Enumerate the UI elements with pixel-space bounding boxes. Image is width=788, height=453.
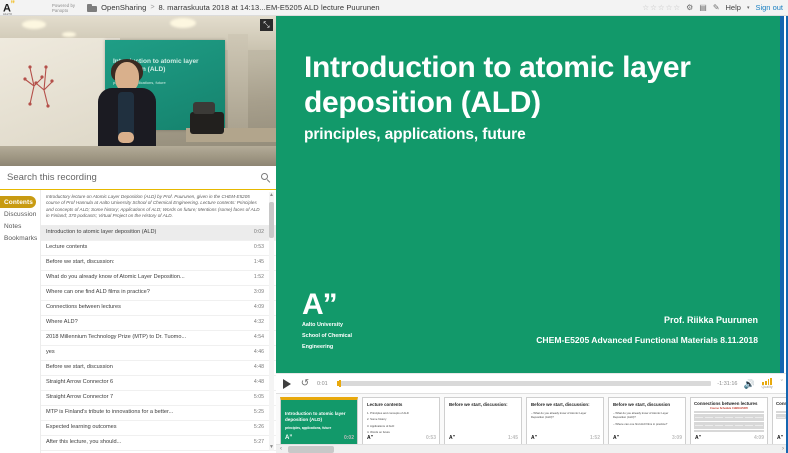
quality-bars-icon [762,378,771,385]
thumbnail-logo: A” [449,436,455,441]
left-panel: Introduction to atomic layer deposition … [0,16,276,453]
logo-mark: A” [302,292,352,318]
list-item-time: 4:48 [254,379,264,386]
list-item-time: 1:52 [254,274,264,281]
bag [190,112,224,134]
star-icon[interactable]: ☆ [673,4,680,12]
main-content: Introduction to atomic layer deposition … [276,16,788,453]
thumbnail-card[interactable]: Connections between lectures Course Sche… [690,397,768,445]
scroll-down-icon[interactable]: ▼ [268,444,275,451]
camera-equipment [193,102,215,114]
bullet: – What do you already know of Atomic Lay… [613,411,681,422]
scroll-up-icon[interactable]: ▲ [268,192,275,199]
slide-course: CHEM-E5205 Advanced Functional Materials… [536,335,758,345]
bullet: 4. Words on future [367,430,435,436]
list-item-title: MTP is Finland's tribute to innovations … [46,409,179,416]
aalto-logo[interactable]: A” AALTO [0,0,48,16]
thumbnail-filmstrip[interactable]: Introduction to atomic layer deposition … [276,393,788,453]
list-item-title: Introduction to atomic layer deposition … [46,229,162,236]
list-item[interactable]: 2018 Millennium Technology Prize (MTP) t… [41,331,276,346]
list-item-time: 4:09 [254,304,264,311]
list-item-title: Before we start, discussion: [46,259,120,266]
thumbnail-title: Before we start, discussion: [531,402,599,408]
thumbnail-card[interactable]: Before we start, discussion: – What do y… [526,397,604,445]
expand-icon[interactable]: ⤡ [260,19,273,31]
bullet: – What do you already know of Atomic Lay… [531,411,599,422]
recording-description: Introductory lecture on Atomic Layer Dep… [41,190,276,226]
list-item[interactable]: Introduction to atomic layer deposition … [41,226,276,241]
thumbnail-logo: A” [777,436,783,441]
contents-panel: Contents Discussion Notes Bookmarks Intr… [0,190,276,453]
filmstrip-prev-icon[interactable]: ‹ [276,446,286,452]
list-item[interactable]: Where can one find ALD films in practice… [41,286,276,301]
panopto-player-page: A” AALTO Powered byPanopto OpenSharing >… [0,0,788,453]
list-item-title: After this lecture, you should... [46,439,127,446]
list-item-time: 0:53 [254,244,264,251]
star-icon[interactable]: ☆ [658,4,665,12]
breadcrumb-separator: > [150,4,154,11]
player-controls: ↺ 0:01 -1:31:16 🔊 Quality ˇ [276,373,788,393]
search-bar [0,166,276,190]
list-item-title: Lecture contents [46,244,93,251]
list-item[interactable]: Expected learning outcomes 5:26 [41,421,276,436]
list-item-title: Before we start, discussion [46,364,119,371]
sign-out-link[interactable]: Sign out [755,3,783,12]
list-item[interactable]: Lecture contents 0:53 [41,241,276,256]
slide-subtitle: principles, applications, future [304,126,526,144]
thumbnail-title: Introduction to atomic layer deposition … [281,400,357,423]
tab-contents[interactable]: Contents [0,196,36,208]
thumbnail-logo: A” [613,436,619,441]
tab-discussion[interactable]: Discussion [0,208,40,220]
list-item-title: Connections between lectures [46,304,127,311]
slide-author: Prof. Riikka Puurunen [664,315,758,325]
list-item-time: 1:45 [254,259,264,266]
list-item[interactable]: Straight Arrow Connector 7 5:05 [41,391,276,406]
scrollbar-thumb[interactable] [269,202,274,238]
wall-pillar [228,34,248,134]
help-link[interactable]: Help [726,3,741,12]
star-icon[interactable]: ☆ [642,4,649,12]
thumbnail-card[interactable]: Before we start, discussion: A” 1:45 [444,397,522,445]
ceiling-light [170,18,196,28]
thumbnail-logo: A” [695,436,701,441]
breadcrumb-folder[interactable]: OpenSharing [101,3,146,12]
list-item[interactable]: yes 4:46 [41,346,276,361]
chevron-down-icon[interactable]: ▾ [747,5,750,11]
thumbnail-table-grid [694,411,764,432]
thumbnail-time: 0:53 [426,435,436,441]
list-item-title: Expected learning outcomes [46,424,123,431]
logo-mark: A” [3,0,14,13]
captions-icon[interactable]: ▤ [699,4,707,12]
bullet: – Where can one find ALD films in practi… [613,422,681,428]
breadcrumb-recording-title: 8. marraskuuta 2018 at 14:13...EM-E5205 … [159,3,380,12]
thumbnail-time: 0:02 [344,435,354,441]
thumbnail-time: 1:52 [590,435,600,441]
thumbnail-card[interactable]: Before we start, discussion – What do yo… [608,397,686,445]
rating-stars[interactable]: ☆ ☆ ☆ ☆ ☆ [642,4,680,12]
quality-label: Quality [761,385,772,389]
list-item-title: 2018 Millennium Technology Prize (MTP) t… [46,334,192,341]
tab-bookmarks[interactable]: Bookmarks [0,232,40,244]
list-item-time: 4:54 [254,334,264,341]
list-item[interactable]: Connections between lectures 4:09 [41,301,276,316]
thumbnail-time: 1:45 [508,435,518,441]
list-item[interactable]: Before we start, discussion 4:48 [41,361,276,376]
thumbnail-time: 3:09 [672,435,682,441]
slide-title: Introduction to atomic layer deposition … [304,50,754,120]
thumbnail-card[interactable]: Lecture contents 1. Principles and conce… [362,397,440,445]
top-navigation-bar: A” AALTO Powered byPanopto OpenSharing >… [0,0,788,16]
list-item-title: What do you already know of Atomic Layer… [46,274,191,281]
list-item-time: 5:27 [254,439,264,446]
star-icon[interactable]: ☆ [650,4,657,12]
search-icon[interactable] [254,166,276,190]
chevron-down-icon[interactable]: ˇ [779,380,783,387]
list-item-time: 4:48 [254,364,264,371]
list-item-title: Where ALD? [46,319,84,326]
list-item[interactable]: MTP is Finland's tribute to innovations … [41,406,276,421]
list-item-time: 5:05 [254,394,264,401]
search-input[interactable] [0,172,254,183]
thumbnail-title: Before we start, discussion: [449,402,517,408]
org-line-2: School of Chemical [302,329,352,340]
slide-right-edge [780,16,784,373]
list-item-time: 3:09 [254,289,264,296]
filmstrip-scroll-track[interactable] [286,446,778,453]
top-bar-actions: ☆ ☆ ☆ ☆ ☆ ⚙ ▤ ✎ Help ▾ Sign out [642,3,788,12]
play-button[interactable] [281,378,293,390]
remaining-time: -1:31:16 [717,381,737,387]
breadcrumb: OpenSharing > 8. marraskuuta 2018 at 14:… [87,3,380,12]
thumbnail-bullets: 1. Principles and concepts of ALD 2. Som… [367,408,435,437]
list-item[interactable]: After this lecture, you should... 5:27 [41,436,276,451]
thumbnail-card[interactable]: Introduction to atomic layer deposition … [280,397,358,445]
panel-tabs: Contents Discussion Notes Bookmarks [0,190,40,453]
list-item[interactable]: Where ALD? 4:32 [41,316,276,331]
thumbnail-bullets: – What do you already know of Atomic Lay… [531,408,599,422]
quality-button[interactable]: Quality [761,378,772,389]
ceiling-light [22,20,46,29]
contents-list[interactable]: Introductory lecture on Atomic Layer Dep… [40,190,276,453]
list-item-time: 5:25 [254,409,264,416]
list-item-title: Straight Arrow Connector 6 [46,379,119,386]
seek-handle[interactable] [339,380,341,387]
rewind-10-icon[interactable]: ↺ [299,378,311,390]
tab-notes[interactable]: Notes [0,220,40,232]
gear-icon[interactable]: ⚙ [686,4,693,12]
thumbnail-logo: A” [285,435,292,441]
filmstrip-scrollbar[interactable]: ‹ › [276,444,788,453]
thumbnail-time: 4:09 [754,435,764,441]
current-time: 0:01 [317,381,331,387]
contents-scrollbar[interactable]: ▲ ▼ [269,192,274,451]
edit-pencil-icon[interactable]: ✎ [713,4,720,12]
thumbnail-subtitle: principles, applications, future [281,423,357,430]
folder-icon [87,4,97,12]
aalto-slide-logo: A” Aalto University School of Chemical E… [302,292,352,351]
front-desk [0,146,276,166]
volume-icon[interactable]: 🔊 [743,378,755,390]
star-icon[interactable]: ☆ [666,4,673,12]
org-line-3: Engineering [302,340,352,351]
list-item-time: 4:32 [254,319,264,326]
thumbnail-logo: A” [367,436,373,441]
video-preview[interactable]: Introduction to atomic layer deposition … [0,16,276,166]
thumbnail-bullets: – What do you already know of Atomic Lay… [613,408,681,428]
list-item[interactable]: Straight Arrow Connector 6 4:48 [41,376,276,391]
slide-viewer[interactable]: Introduction to atomic layer deposition … [276,16,784,373]
hands [118,132,134,143]
list-item-title: yes [46,349,61,356]
list-item-time: 4:46 [254,349,264,356]
list-item[interactable]: Before we start, discussion: 1:45 [41,256,276,271]
list-item-title: Straight Arrow Connector 7 [46,394,119,401]
list-item[interactable]: What do you already know of Atomic Layer… [41,271,276,286]
ceiling-light [62,32,76,37]
filmstrip-scroll-thumb[interactable] [288,446,334,453]
list-item-title: Where can one find ALD films in practice… [46,289,156,296]
list-item-time: 0:02 [254,229,264,236]
thumbnail-logo: A” [531,436,537,441]
powered-by-label: Powered byPanopto [48,3,75,13]
seek-bar[interactable] [337,381,711,386]
list-item-time: 5:26 [254,424,264,431]
